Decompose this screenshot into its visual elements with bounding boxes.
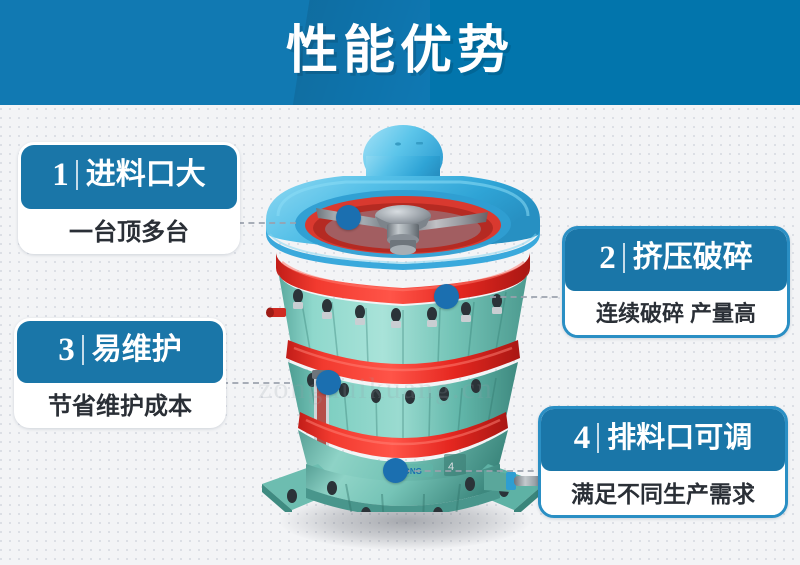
callout-card-2[interactable]: 2 挤压破碎 连续破碎 产量高: [562, 226, 790, 338]
callout-1-header: 1 进料口大: [21, 145, 237, 209]
callout-1-subtitle: 一台顶多台: [21, 209, 237, 251]
callout-4-subtitle: 满足不同生产需求: [541, 471, 785, 515]
connector-line-4: [404, 470, 544, 472]
callout-card-3[interactable]: 3 易维护 节省维护成本: [14, 318, 226, 428]
connector-line-3: [222, 382, 290, 384]
callout-card-4[interactable]: 4 排料口可调 满足不同生产需求: [538, 406, 788, 518]
page-title: 性能优势: [0, 0, 800, 105]
crushing-chamber-hotspot[interactable]: [434, 284, 459, 309]
callout-4-title: 排料口可调: [607, 424, 752, 453]
callout-1-number: 1: [52, 159, 76, 192]
callout-3-subtitle: 节省维护成本: [17, 383, 223, 425]
callout-4-header: 4 排料口可调: [541, 409, 785, 471]
callout-2-number: 2: [599, 242, 623, 275]
callout-2-subtitle: 连续破碎 产量高: [565, 291, 787, 335]
crusher-illustration: ZHONG 4: [248, 112, 558, 512]
callout-4-number: 4: [574, 422, 598, 455]
header-banner: 性能优势: [0, 0, 800, 105]
callout-3-header: 3 易维护: [17, 321, 223, 383]
callout-2-divider: [623, 243, 625, 273]
callout-1-title: 进料口大: [86, 160, 206, 190]
poster-root: 性能优势: [0, 0, 800, 565]
discharge-outlet-hotspot[interactable]: [383, 458, 408, 483]
callout-3-number: 3: [58, 334, 82, 367]
connector-line-1: [238, 222, 296, 224]
callout-4-divider: [597, 423, 599, 453]
connector-line-2: [490, 296, 568, 298]
callout-1-divider: [76, 160, 78, 190]
callout-card-1[interactable]: 1 进料口大 一台顶多台: [18, 142, 240, 254]
callout-2-header: 2 挤压破碎: [565, 229, 787, 291]
maintenance-hotspot[interactable]: [316, 370, 341, 395]
callout-2-title: 挤压破碎: [633, 243, 753, 273]
callout-3-title: 易维护: [92, 335, 182, 365]
callout-3-divider: [82, 335, 84, 365]
feed-opening-hotspot[interactable]: [336, 205, 361, 230]
